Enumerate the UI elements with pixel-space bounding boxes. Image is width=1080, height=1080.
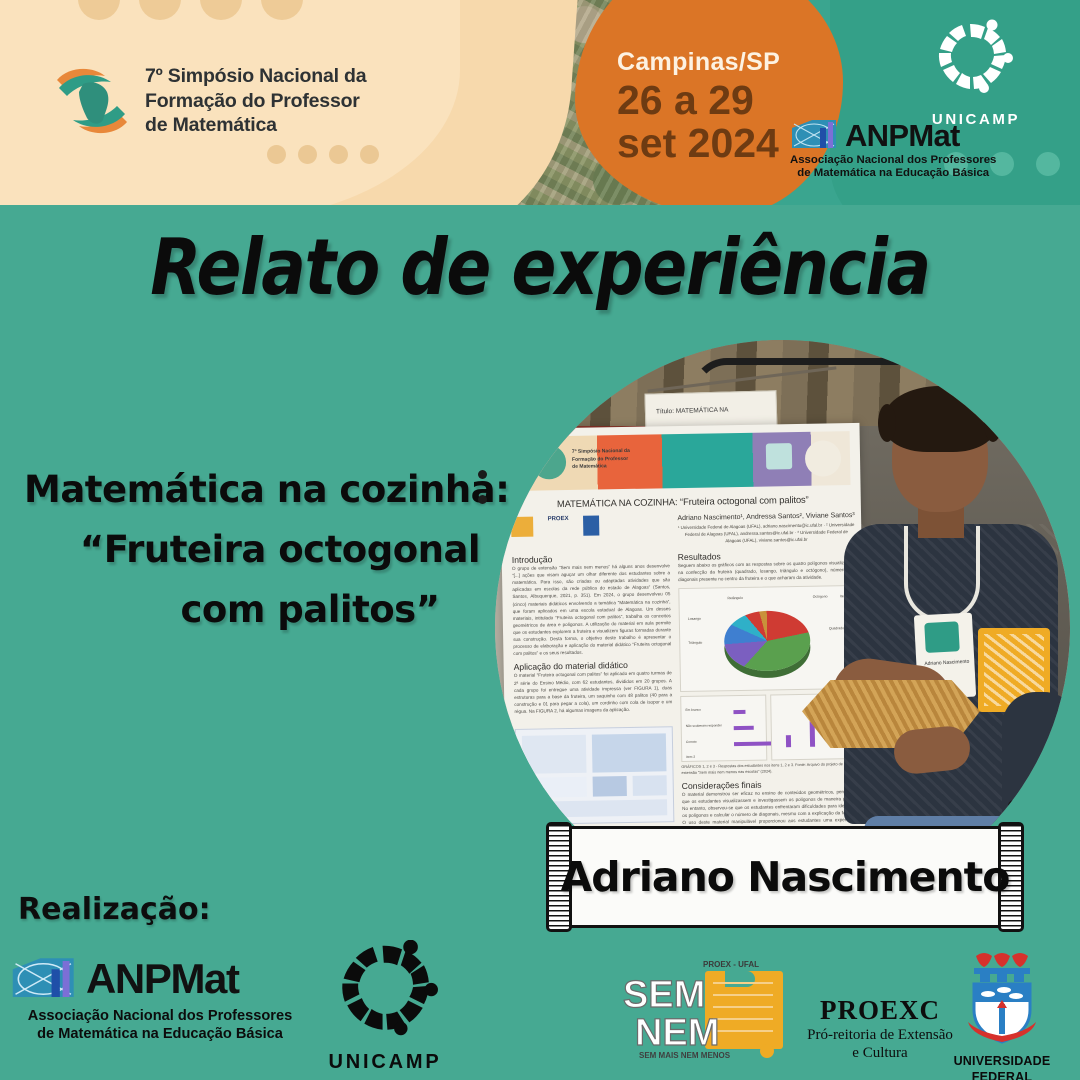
subject-line-3: com palitos” [18, 580, 518, 640]
bar-h-label-2: Não souberam responder [686, 724, 722, 729]
simposio-logo-lockup: 7º Simpósio Nacional da Formação do Prof… [53, 58, 366, 144]
header-unicamp-logo: UNICAMP [924, 18, 1028, 128]
semnem-line1: SEM [623, 974, 705, 1016]
footer-ufal-logo: UNIVERSIDADE FEDERAL DE ALAGOAS [936, 950, 1068, 1080]
person-lanyard [904, 526, 980, 622]
poster-intro-text: O grupo de extensão “Sem mais nem menos”… [512, 562, 672, 657]
footer-anpmat-wordmark: ANPMat [86, 958, 239, 1000]
semnem-line2: NEM [635, 1012, 719, 1054]
simposio-brasil-logo-icon [53, 58, 131, 144]
simposio-title: 7º Simpósio Nacional da Formação do Prof… [145, 64, 366, 138]
semnem-top-label: PROEX - UFAL [703, 960, 759, 969]
poster-application-text: O material “Fruteira octogonal com palit… [514, 670, 673, 715]
subject-line-2: “Fruteira octogonal [18, 520, 518, 580]
poster-semnem-logo-icon [511, 517, 533, 537]
anpmat-mark-icon [790, 118, 842, 152]
presentation-subject: Matemática na cozinha: “Fruteira octogon… [18, 460, 518, 640]
poster-band-square-icon [766, 443, 792, 469]
poster-ufal-logo-icon [583, 515, 599, 535]
poster-left-column: Introdução O grupo de extensão “Sem mais… [512, 552, 673, 715]
header-anpmat-logo: ANPMat Associação Nacional dos Professor… [790, 118, 996, 181]
poster-band-event-text: 7º Simpósio Nacional da Formação do Prof… [572, 448, 630, 472]
header-anpmat-wordmark: ANPMat [845, 120, 960, 151]
poster-bar-chart-horizontal: Em branco Não souberam responder Correto… [680, 695, 767, 762]
unicamp-logo-icon [329, 940, 441, 1044]
semnem-bottom-label: SEM MAIS NEM MENOS [639, 1051, 731, 1060]
person-hair [884, 386, 996, 452]
pie-label-retangulo: Retângulo [727, 596, 743, 600]
bar-h-label-1: Correto [686, 740, 697, 744]
footer-unicamp-logo: UNICAMP [310, 940, 460, 1074]
poster-proex-logo-icon: PROEX [547, 516, 569, 536]
poster-sponsor-logos: PROEX [511, 515, 599, 537]
realizacao-label: Realização: [18, 892, 211, 927]
poster-figure-1 [515, 726, 675, 825]
poster-header-band: 7º Simpósio Nacional da Formação do Prof… [526, 431, 851, 491]
bar-h-label-3: Em branco [685, 708, 700, 712]
badge-name: Adriano Nascimento [924, 659, 969, 667]
footer-semnem-logo: PROEX - UFAL SEM NEM SEM MAIS NEM MENOS [617, 955, 797, 1061]
pie-label-losango: Losango [688, 617, 701, 621]
footer-unicamp-label: UNICAMP [310, 1051, 460, 1074]
presenter-name-banner: Adriano Nascimento [540, 822, 1030, 932]
subject-line-1: Matemática na cozinha: [18, 460, 518, 520]
person-watch [1008, 800, 1048, 822]
pie-label-triangulo: Triângulo [688, 641, 702, 645]
ufal-crest-icon [954, 950, 1050, 1046]
event-header: Campinas/SP 26 a 29set 2024 7º Simpósio … [0, 0, 1080, 205]
decorative-side-dots [478, 470, 487, 520]
bar-h-legend: Item 2 [686, 755, 695, 759]
header-anpmat-subtitle: Associação Nacional dos Professores de M… [790, 154, 996, 181]
poster-title: MATEMÁTICA NA COZINHA: “Fruteira octogon… [513, 493, 853, 510]
anpmat-mark-icon [10, 955, 82, 1003]
page-title: Relato de experiência [22, 223, 1059, 313]
presenter-name: Adriano Nascimento [540, 822, 1030, 932]
research-poster: 7º Simpósio Nacional da Formação do Prof… [499, 423, 866, 834]
footer-anpmat-logo: ANPMat Associação Nacional dos Professor… [10, 955, 310, 1043]
cream-dots-middle [267, 145, 379, 164]
poster-band-logo-icon [532, 445, 567, 480]
cream-dots-top [78, 0, 303, 20]
ufal-label: UNIVERSIDADE FEDERAL DE ALAGOAS [936, 1054, 1068, 1080]
event-location: Campinas/SP [617, 48, 827, 77]
pie-chart-graphic [724, 611, 811, 672]
footer-anpmat-subtitle: Associação Nacional dos Professores de M… [10, 1007, 310, 1043]
unicamp-logo-icon [930, 18, 1022, 102]
